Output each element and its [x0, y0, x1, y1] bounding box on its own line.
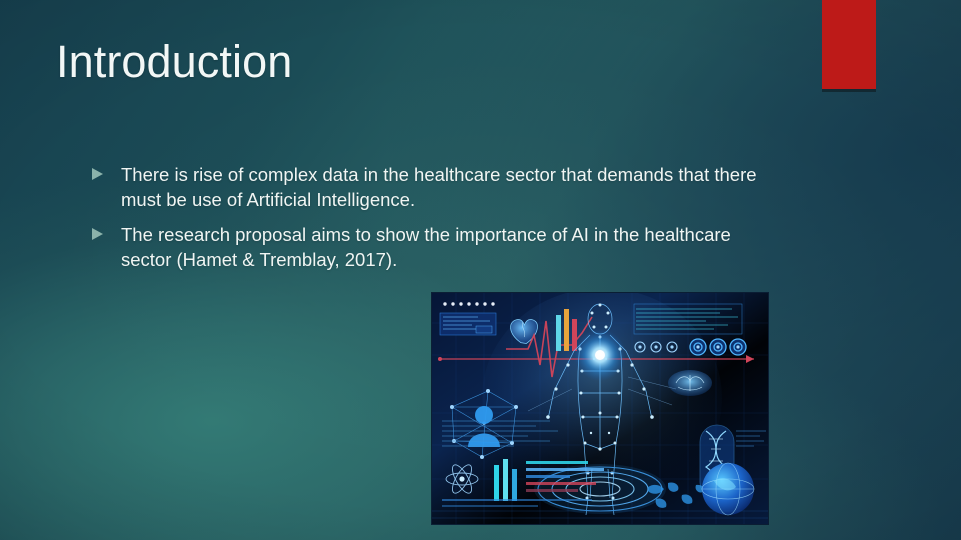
triangle-bullet-icon [92, 168, 104, 181]
slide-canvas: Introduction There is rise of complex da… [0, 0, 961, 540]
globe-icon [702, 463, 754, 515]
bullet-text: The research proposal aims to show the i… [121, 223, 782, 272]
infographic-svg [432, 293, 768, 524]
list-item: The research proposal aims to show the i… [92, 223, 782, 272]
circular-target-icons [690, 339, 746, 355]
triangle-bullet-icon [92, 228, 104, 241]
brain-scan-icon [668, 370, 712, 396]
list-item: There is rise of complex data in the hea… [92, 163, 782, 212]
page-title: Introduction [56, 38, 292, 85]
ai-healthcare-infographic [432, 293, 768, 524]
bullet-text: There is rise of complex data in the hea… [121, 163, 782, 212]
bullet-list: There is rise of complex data in the hea… [92, 163, 782, 283]
data-readout-panels [440, 313, 496, 335]
red-accent-block [822, 0, 876, 89]
